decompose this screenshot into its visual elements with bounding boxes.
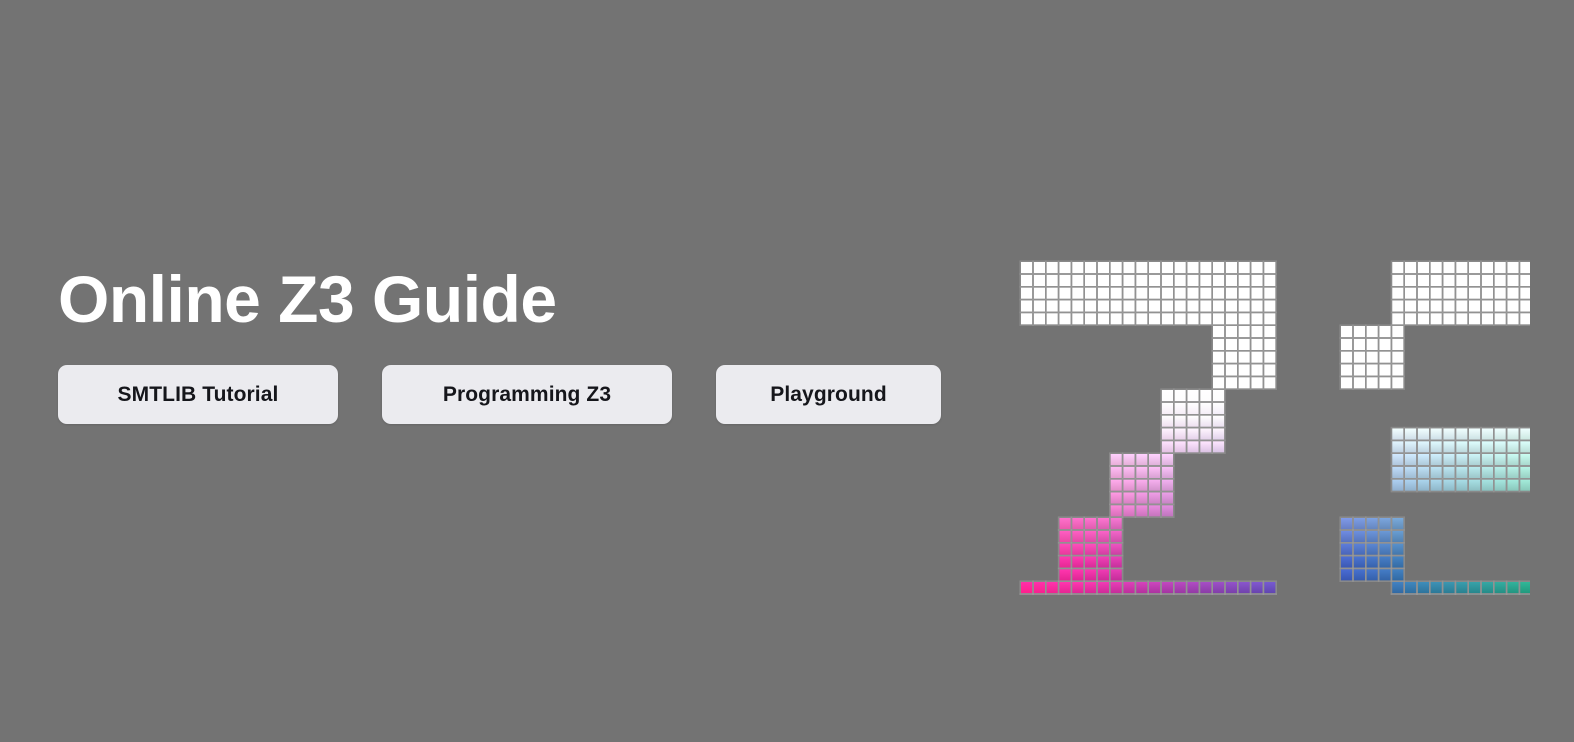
hero-content: Online Z3 Guide SMTLIB Tutorial Programm…	[58, 258, 978, 424]
playground-button[interactable]: Playground	[716, 365, 941, 424]
hero-button-group: SMTLIB Tutorial Programming Z3 Playgroun…	[58, 365, 978, 424]
smtlib-tutorial-button[interactable]: SMTLIB Tutorial	[58, 365, 338, 424]
programming-z3-button[interactable]: Programming Z3	[382, 365, 672, 424]
hero-section: Online Z3 Guide SMTLIB Tutorial Programm…	[0, 0, 1574, 742]
z3-logo	[1010, 250, 1530, 595]
page-title: Online Z3 Guide	[58, 258, 978, 340]
z3-logo-canvas	[1010, 250, 1530, 595]
